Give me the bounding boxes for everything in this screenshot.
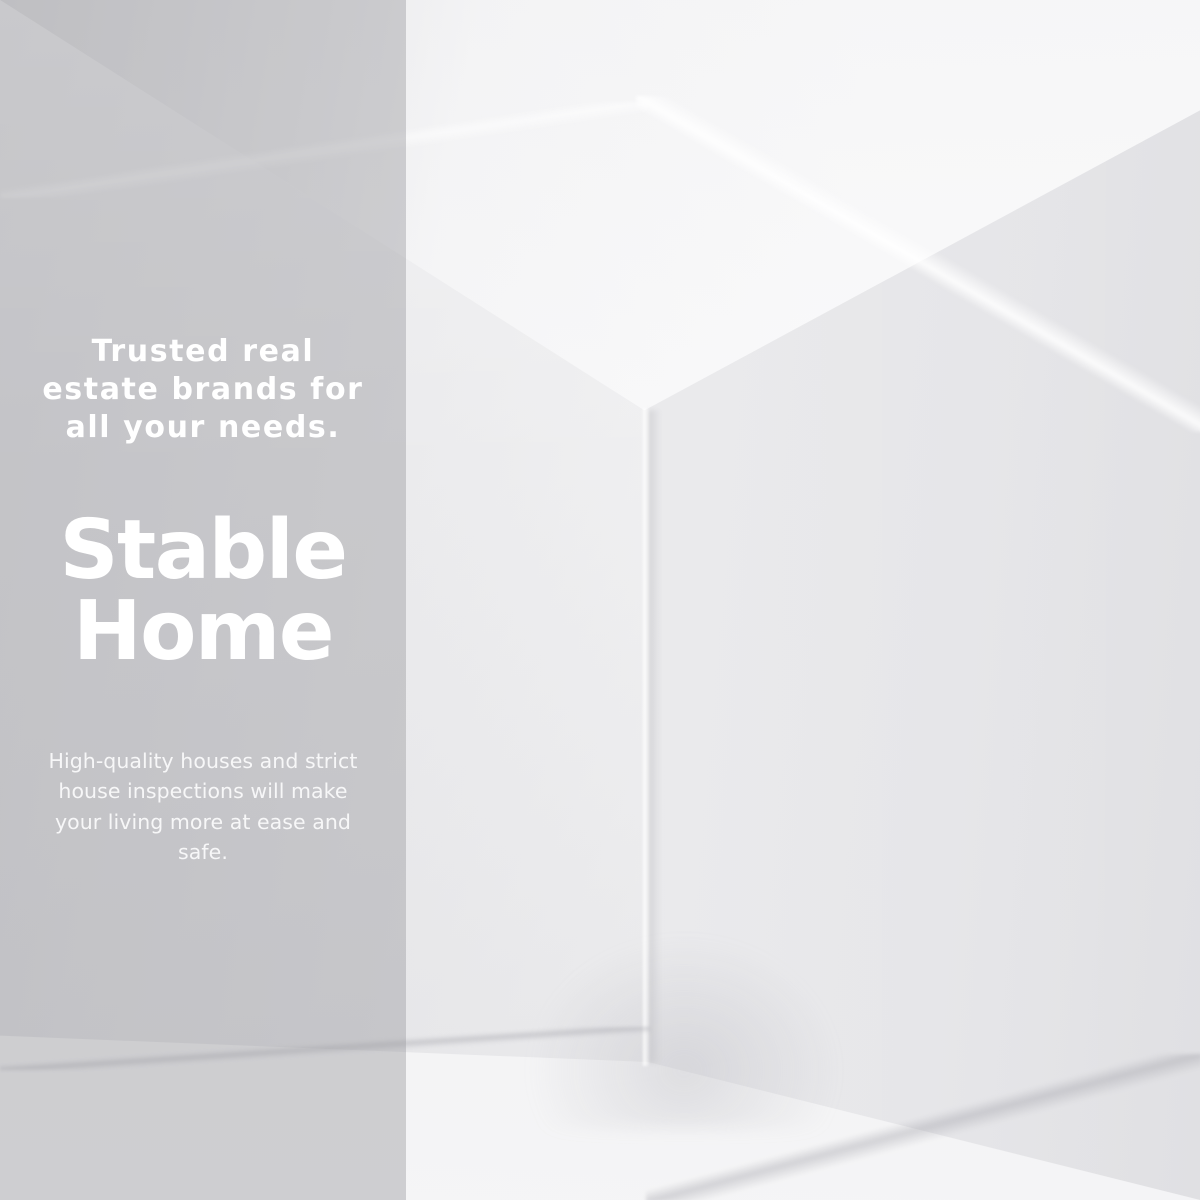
floor-junction-right <box>646 1054 1200 1200</box>
subcopy-text: High-quality houses and strict house ins… <box>44 746 362 867</box>
eyebrow-text: Trusted real estate brands for all your … <box>33 333 373 448</box>
ceiling-diagonal-edge <box>636 96 1200 432</box>
headline-line-1: Stable <box>59 510 346 591</box>
poster-canvas: Trusted real estate brands for all your … <box>0 0 1200 1200</box>
headline-line-2: Home <box>59 591 346 672</box>
vertical-corner-edge <box>643 408 650 1066</box>
copy-block: Trusted real estate brands for all your … <box>0 0 406 1200</box>
page-title: Stable Home <box>59 510 346 672</box>
corner-edge-shadow <box>648 410 661 1063</box>
